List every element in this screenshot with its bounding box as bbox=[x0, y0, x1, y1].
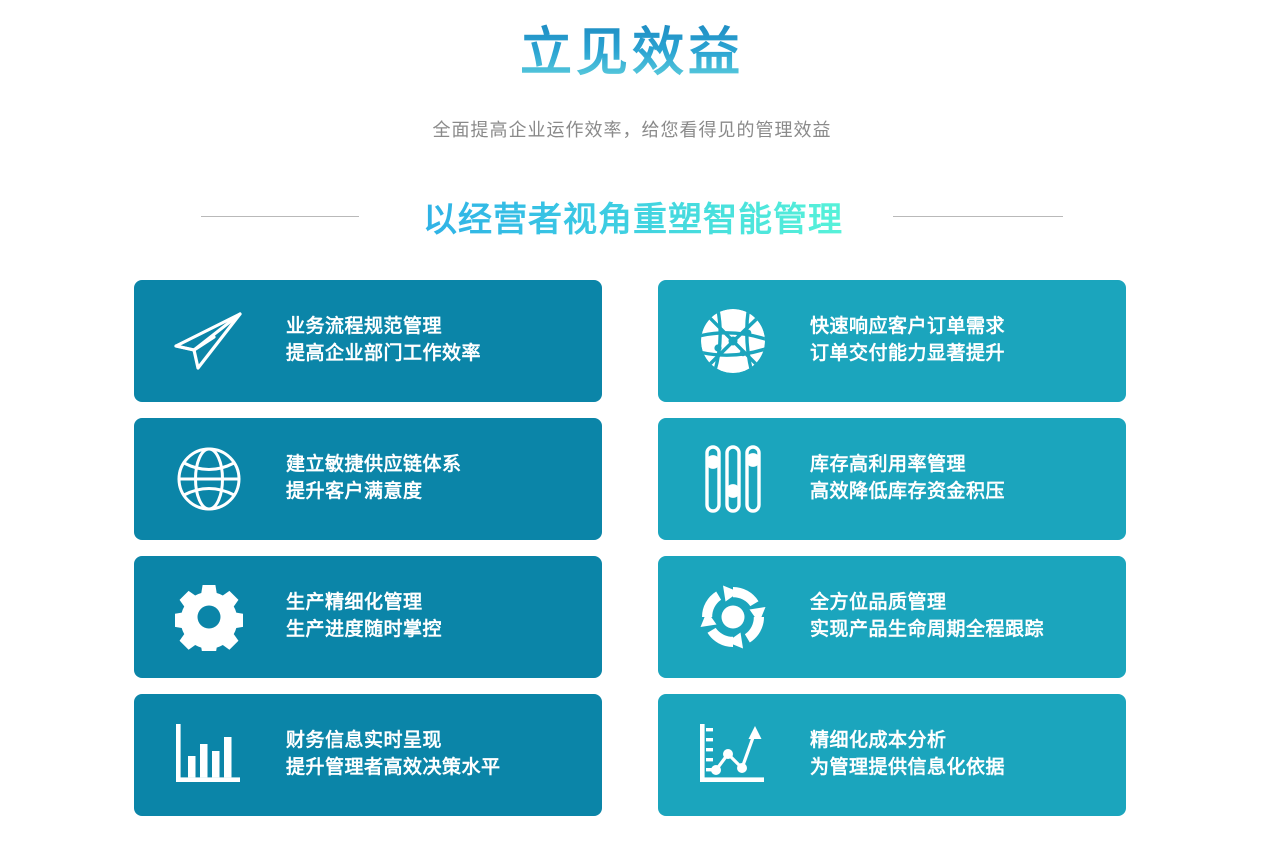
benefit-card[interactable]: 库存高利用率管理高效降低库存资金积压 bbox=[658, 418, 1126, 540]
page-root: 立见效益 全面提高企业运作效率，给您看得见的管理效益 以经营者视角重塑智能管理 … bbox=[0, 0, 1264, 859]
benefit-card-line-1: 精细化成本分析 bbox=[810, 728, 1005, 755]
benefit-card-line-2: 订单交付能力显著提升 bbox=[810, 341, 1005, 368]
page-title: 立见效益 bbox=[0, 24, 1264, 84]
benefit-card-text: 快速响应客户订单需求订单交付能力显著提升 bbox=[810, 314, 1005, 368]
benefit-card[interactable]: 精细化成本分析为管理提供信息化依据 bbox=[658, 694, 1126, 816]
section-heading: 以经营者视角重塑智能管理 bbox=[0, 192, 1264, 241]
section-heading-text: 以经营者视角重塑智能管理 bbox=[423, 192, 843, 241]
benefit-card-line-1: 全方位品质管理 bbox=[810, 590, 1044, 617]
benefit-card-line-2: 生产进度随时掌控 bbox=[286, 617, 442, 644]
globe-wireframe-icon bbox=[170, 444, 248, 514]
paper-plane-icon bbox=[170, 306, 248, 376]
benefit-card[interactable]: 生产精细化管理生产进度随时掌控 bbox=[134, 556, 602, 678]
benefit-card-line-2: 提高企业部门工作效率 bbox=[286, 341, 481, 368]
benefit-card-line-1: 快速响应客户订单需求 bbox=[810, 314, 1005, 341]
benefit-card-line-2: 为管理提供信息化依据 bbox=[810, 755, 1005, 782]
hero-section: 立见效益 全面提高企业运作效率，给您看得见的管理效益 bbox=[0, 0, 1264, 142]
benefit-card[interactable]: 快速响应客户订单需求订单交付能力显著提升 bbox=[658, 280, 1126, 402]
benefit-card-line-1: 财务信息实时呈现 bbox=[286, 728, 501, 755]
divider-line-left bbox=[201, 216, 359, 217]
line-chart-icon bbox=[694, 720, 772, 790]
benefit-card-line-1: 建立敏捷供应链体系 bbox=[286, 452, 462, 479]
benefit-card-line-2: 提升客户满意度 bbox=[286, 479, 462, 506]
benefit-card-text: 库存高利用率管理高效降低库存资金积压 bbox=[810, 452, 1005, 506]
cycle-arrows-icon bbox=[694, 582, 772, 652]
benefit-card[interactable]: 业务流程规范管理提高企业部门工作效率 bbox=[134, 280, 602, 402]
benefit-card-line-2: 提升管理者高效决策水平 bbox=[286, 755, 501, 782]
benefit-card-text: 生产精细化管理生产进度随时掌控 bbox=[286, 590, 442, 644]
benefit-card-text: 业务流程规范管理提高企业部门工作效率 bbox=[286, 314, 481, 368]
network-globe-icon bbox=[694, 306, 772, 376]
benefit-card-line-1: 业务流程规范管理 bbox=[286, 314, 481, 341]
sliders-icon bbox=[694, 444, 772, 514]
divider-line-right bbox=[893, 216, 1063, 217]
benefit-card[interactable]: 建立敏捷供应链体系提升客户满意度 bbox=[134, 418, 602, 540]
benefit-card-line-1: 库存高利用率管理 bbox=[810, 452, 1005, 479]
page-subtitle: 全面提高企业运作效率，给您看得见的管理效益 bbox=[0, 116, 1264, 142]
benefit-card-text: 财务信息实时呈现提升管理者高效决策水平 bbox=[286, 728, 501, 782]
benefit-card-text: 精细化成本分析为管理提供信息化依据 bbox=[810, 728, 1005, 782]
benefit-card-line-1: 生产精细化管理 bbox=[286, 590, 442, 617]
gear-icon bbox=[170, 582, 248, 652]
benefit-card[interactable]: 全方位品质管理实现产品生命周期全程跟踪 bbox=[658, 556, 1126, 678]
benefits-card-grid: 业务流程规范管理提高企业部门工作效率 bbox=[134, 280, 1130, 816]
benefit-card-text: 全方位品质管理实现产品生命周期全程跟踪 bbox=[810, 590, 1044, 644]
benefit-card[interactable]: 财务信息实时呈现提升管理者高效决策水平 bbox=[134, 694, 602, 816]
benefit-card-line-2: 实现产品生命周期全程跟踪 bbox=[810, 617, 1044, 644]
benefit-card-line-2: 高效降低库存资金积压 bbox=[810, 479, 1005, 506]
benefit-card-text: 建立敏捷供应链体系提升客户满意度 bbox=[286, 452, 462, 506]
bar-chart-icon bbox=[170, 720, 248, 790]
